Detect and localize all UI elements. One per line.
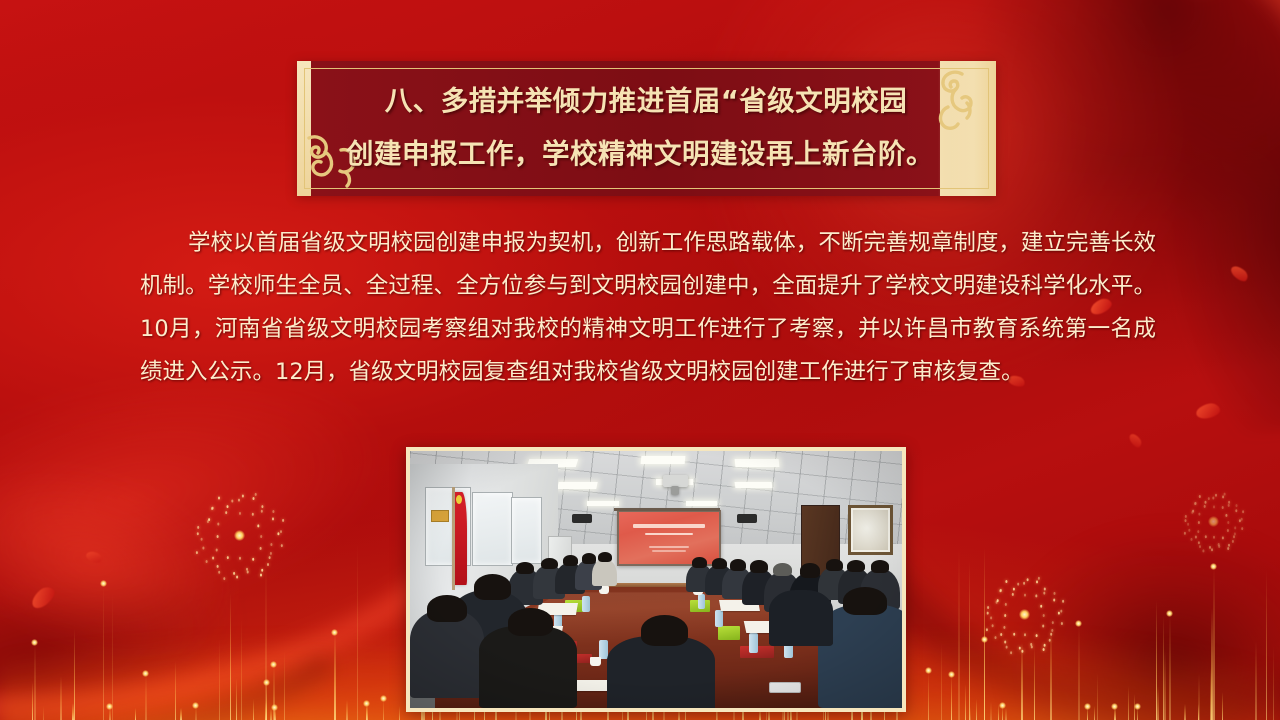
- firework-spark: [1185, 519, 1187, 522]
- paper-cup: [590, 657, 602, 667]
- photo-frame: [406, 447, 906, 712]
- light-ray: [366, 704, 368, 720]
- firework-spark: [1194, 502, 1196, 505]
- firework-spark: [1036, 634, 1038, 637]
- firework-spark: [1044, 588, 1046, 591]
- firework-spark: [261, 569, 263, 572]
- attendee-head: [508, 608, 552, 636]
- attendee-head: [712, 558, 727, 569]
- firework-spark: [1241, 518, 1243, 521]
- firework-spark: [1062, 600, 1064, 603]
- attendee-head: [750, 560, 768, 573]
- firework-spark: [217, 565, 219, 568]
- firework-spark: [277, 532, 279, 535]
- light-ray: [1097, 673, 1099, 720]
- firework-spark: [992, 624, 994, 627]
- firework-spark: [1218, 545, 1220, 548]
- firework-spark: [239, 557, 241, 560]
- banner-title-line-2: 创建申报工作，学校精神文明建设再上新台阶。: [309, 128, 971, 181]
- body-paragraph: 学校以首届省级文明校园创建申报为契机，创新工作思路载体，不断完善规章制度，建立完…: [140, 222, 1156, 394]
- firework-spark: [1035, 594, 1037, 597]
- light-ray: [253, 699, 255, 720]
- firework-spark: [1050, 633, 1052, 636]
- ray-tip-dot: [1075, 620, 1082, 627]
- silk-ribbon-bottom-right: [920, 460, 1280, 720]
- firework-spark: [211, 507, 213, 510]
- attendee-head: [871, 560, 890, 573]
- firework-spark: [1005, 603, 1007, 606]
- firework-spark: [1227, 547, 1229, 550]
- firework-spark: [255, 493, 257, 496]
- firework-spark: [252, 513, 254, 516]
- petal-icon: [85, 549, 104, 564]
- water-bottle: [698, 594, 705, 609]
- firework-spark: [1232, 540, 1234, 543]
- light-ray: [180, 708, 182, 720]
- firework-spark: [1191, 511, 1193, 514]
- light-ray: [219, 639, 221, 720]
- tissue-box: [718, 626, 741, 640]
- firework-spark: [1215, 494, 1217, 497]
- firework-spark: [197, 526, 199, 529]
- light-ray: [1266, 570, 1268, 720]
- light-ray: [1156, 600, 1158, 720]
- firework-spark: [1013, 588, 1015, 591]
- light-ray: [175, 661, 177, 720]
- firework-spark: [269, 556, 271, 559]
- firework-spark: [1188, 529, 1190, 532]
- firework-spark: [1000, 633, 1002, 636]
- attendee-head: [563, 555, 579, 566]
- screen-text-line-4: [652, 550, 686, 552]
- light-ray: [274, 708, 276, 720]
- firework-spark: [1021, 650, 1023, 653]
- firework-spark: [1204, 505, 1206, 508]
- light-ray: [1128, 686, 1130, 720]
- firework-spark: [1054, 592, 1056, 595]
- firework-spark: [1241, 527, 1243, 530]
- firework-icon: [196, 492, 282, 578]
- firework-spark: [1191, 538, 1193, 541]
- smartphone: [769, 682, 801, 693]
- firework-spark: [247, 571, 249, 574]
- firework-spark: [1198, 541, 1200, 544]
- attendee-head: [541, 558, 558, 570]
- firework-spark: [1224, 493, 1226, 496]
- light-ray: [195, 706, 197, 720]
- firework-spark: [1239, 519, 1241, 522]
- firework-spark: [217, 535, 219, 538]
- petal-icon: [1195, 402, 1221, 421]
- light-ray: [266, 683, 268, 720]
- light-ray: [1094, 706, 1096, 720]
- firework-spark: [1030, 643, 1032, 646]
- attendee-head: [474, 574, 511, 600]
- firework-spark: [270, 552, 272, 555]
- light-ray: [1164, 650, 1166, 720]
- ray-tip-dot: [1084, 703, 1091, 710]
- firework-spark: [1197, 530, 1199, 533]
- firework-spark: [1208, 497, 1210, 500]
- petal-icon: [28, 583, 58, 611]
- screen-text-line-2: [645, 533, 693, 536]
- firework-spark: [236, 576, 238, 579]
- firework-spark: [1061, 622, 1063, 625]
- firework-spark: [227, 505, 229, 508]
- wall-sign: [431, 510, 450, 522]
- silk-arc-6: [0, 395, 411, 720]
- firework-spark: [1006, 646, 1008, 649]
- light-ray: [1137, 707, 1139, 720]
- firework-spark: [260, 535, 262, 538]
- wall-painting: [848, 505, 893, 555]
- light-ray: [109, 707, 111, 720]
- screen-text-line-1: [633, 524, 706, 527]
- firework-spark: [206, 560, 208, 563]
- light-ray: [241, 619, 243, 720]
- light-ray: [941, 642, 943, 720]
- light-ray: [976, 699, 978, 720]
- ray-tip-dot: [271, 704, 278, 711]
- firework-spark: [990, 616, 992, 619]
- firework-spark: [1209, 546, 1211, 549]
- ceiling-panel-light: [734, 459, 779, 467]
- wall-speaker: [737, 514, 757, 523]
- light-ray: [1198, 674, 1200, 720]
- firework-spark: [1195, 536, 1197, 539]
- light-ray: [1255, 641, 1257, 720]
- firework-spark: [999, 589, 1001, 592]
- firework-spark: [1185, 515, 1187, 518]
- light-ray: [34, 643, 36, 720]
- light-ray: [284, 651, 286, 720]
- firework-spark: [197, 532, 199, 535]
- firework-spark: [987, 612, 989, 615]
- firework-spark: [995, 636, 997, 639]
- light-ray: [103, 584, 105, 720]
- light-ray: [74, 629, 76, 720]
- light-ray: [145, 674, 147, 720]
- firework-spark: [1213, 505, 1215, 508]
- light-ray: [951, 675, 953, 720]
- projection-screen: [617, 510, 722, 565]
- firework-spark: [1004, 641, 1006, 644]
- ray-tip-dot: [1111, 703, 1118, 710]
- firework-spark: [1003, 626, 1005, 629]
- firework-spark: [1192, 510, 1194, 513]
- attendee-head: [582, 553, 597, 564]
- firework-spark: [1228, 501, 1230, 504]
- firework-spark: [1027, 578, 1029, 581]
- attendee-head: [826, 559, 843, 571]
- firework-spark: [260, 547, 262, 550]
- light-ray: [1021, 642, 1023, 720]
- light-ray: [990, 702, 992, 720]
- banner-title: 八、多措并举倾力推进首届“省级文明校园 创建申报工作，学校精神文明建设再上新台阶…: [321, 75, 971, 181]
- firework-spark: [1019, 647, 1021, 650]
- firework-spark: [1187, 523, 1189, 526]
- ray-tip-dot: [999, 702, 1006, 709]
- light-ray: [965, 684, 967, 720]
- firework-spark: [1218, 543, 1220, 546]
- light-ray: [1210, 667, 1212, 720]
- projector-mount: [671, 486, 679, 495]
- firework-spark: [238, 499, 240, 502]
- firework-spark: [1036, 580, 1038, 583]
- firework-spark: [257, 524, 259, 527]
- firework-spark: [252, 558, 254, 561]
- firework-spark: [1236, 504, 1238, 507]
- ray-tip-dot: [270, 661, 277, 668]
- firework-spark: [1023, 582, 1025, 585]
- light-ray: [969, 561, 971, 720]
- firework-spark: [997, 599, 999, 602]
- firework-spark: [1199, 495, 1201, 498]
- light-ray: [928, 671, 930, 720]
- firework-spark: [196, 551, 198, 554]
- light-ray: [273, 665, 275, 720]
- light-ray: [969, 707, 971, 720]
- firework-spark: [1049, 639, 1051, 642]
- firework-spark: [1213, 536, 1215, 539]
- ray-tip-dot: [142, 670, 149, 677]
- firework-spark: [1058, 612, 1060, 615]
- firework-spark: [1228, 504, 1230, 507]
- flag-star: [456, 495, 462, 504]
- ceiling-panel-light: [686, 501, 718, 506]
- firework-core: [1208, 516, 1219, 527]
- light-ray: [1163, 615, 1165, 720]
- light-ray: [984, 548, 986, 720]
- firework-icon: [986, 576, 1062, 652]
- ray-tip-dot: [363, 700, 370, 707]
- attendee-head-grey: [773, 563, 792, 576]
- ceiling-panel-light: [587, 501, 619, 506]
- ceiling-panel-light: [557, 482, 598, 489]
- light-ray: [357, 543, 359, 720]
- attendee-head: [598, 552, 612, 562]
- firework-spark: [216, 549, 218, 552]
- firework-spark: [1205, 535, 1207, 538]
- ray-tip-dot: [31, 639, 38, 646]
- firework-spark: [1012, 593, 1014, 596]
- firework-spark: [1195, 502, 1197, 505]
- light-ray: [1002, 706, 1004, 720]
- firework-spark: [1202, 549, 1204, 552]
- firework-spark: [272, 517, 274, 520]
- banner-title-line-1: 八、多措并举倾力推进首届“省级文明校园: [385, 85, 908, 117]
- firework-spark: [1010, 651, 1012, 654]
- firework-spark: [223, 577, 225, 580]
- light-ray: [984, 640, 986, 720]
- firework-spark: [1005, 580, 1007, 583]
- firework-spark: [225, 511, 227, 514]
- ceiling-panel-light: [641, 456, 686, 464]
- ray-tip-dot: [1134, 703, 1141, 710]
- firework-spark: [1053, 599, 1055, 602]
- firework-spark: [1043, 614, 1045, 617]
- firework-spark: [1222, 536, 1224, 539]
- firework-spark: [1031, 645, 1033, 648]
- light-ray: [346, 700, 348, 720]
- firework-spark: [281, 544, 283, 547]
- attendee-head: [847, 560, 865, 572]
- firework-spark: [208, 518, 210, 521]
- firework-spark: [1225, 514, 1227, 517]
- attendee-side: [769, 590, 833, 647]
- water-bottle: [749, 633, 758, 652]
- water-bottle: [715, 610, 723, 627]
- firework-spark: [227, 556, 229, 559]
- firework-spark: [1043, 648, 1045, 651]
- light-ray: [383, 699, 385, 720]
- light-ray: [366, 706, 368, 720]
- firework-spark: [1234, 532, 1236, 535]
- firework-spark: [201, 538, 203, 541]
- firework-spark: [1044, 644, 1046, 647]
- light-ray: [1134, 694, 1136, 720]
- ceiling-panel-light: [734, 482, 772, 488]
- light-ray: [265, 701, 267, 720]
- firework-spark: [280, 530, 282, 533]
- firework-spark: [1211, 548, 1213, 551]
- light-ray: [1211, 608, 1213, 720]
- light-ray: [1213, 567, 1215, 720]
- attendee-head: [800, 563, 821, 578]
- firework-spark: [1052, 621, 1054, 624]
- firework-icon: [1184, 492, 1242, 550]
- light-ray: [998, 704, 1000, 720]
- silk-ribbon-bottom-left: [0, 371, 330, 720]
- light-ray: [1078, 624, 1080, 720]
- conference-room-photo: [410, 451, 902, 708]
- light-ray: [1222, 692, 1224, 720]
- light-ray: [334, 633, 336, 720]
- firework-spark: [1234, 526, 1236, 529]
- ray-tip-dot: [380, 695, 387, 702]
- attendee-head: [641, 615, 688, 646]
- light-ray: [1050, 626, 1052, 720]
- firework-spark: [1051, 629, 1053, 632]
- ray-tip-dot: [100, 580, 107, 587]
- light-ray: [958, 548, 960, 720]
- light-ray: [270, 708, 272, 720]
- firework-spark: [1212, 497, 1214, 500]
- title-banner: 八、多措并举倾力推进首届“省级文明校园 创建申报工作，学校精神文明建设再上新台阶…: [297, 61, 996, 196]
- window: [472, 492, 513, 566]
- light-ray: [72, 703, 74, 720]
- firework-spark: [1199, 545, 1201, 548]
- attendee-head: [692, 557, 707, 568]
- chinese-flag-icon: [454, 492, 467, 585]
- ray-tip-dot: [981, 636, 988, 643]
- firework-spark: [1024, 633, 1026, 636]
- ray-tip-dot: [948, 671, 955, 678]
- firework-spark: [233, 572, 235, 575]
- firework-spark: [1060, 610, 1062, 613]
- light-ray: [1273, 646, 1275, 720]
- firework-spark: [1198, 521, 1200, 524]
- light-ray: [32, 682, 34, 720]
- firework-spark: [242, 495, 244, 498]
- firework-spark: [282, 519, 284, 522]
- attendee-back: [479, 626, 577, 708]
- firework-spark: [253, 497, 255, 500]
- firework-spark: [1205, 501, 1207, 504]
- light-ray: [43, 706, 45, 720]
- firework-spark: [1043, 592, 1045, 595]
- wall-speaker: [572, 514, 592, 523]
- light-ray: [230, 593, 232, 720]
- water-bottle: [582, 596, 589, 611]
- firework-core: [1019, 609, 1030, 620]
- firework-spark: [1040, 605, 1042, 608]
- firework-spark: [217, 523, 219, 526]
- ray-tip-dot: [1166, 610, 1173, 617]
- ray-tip-dot: [192, 702, 199, 709]
- firework-spark: [1222, 506, 1224, 509]
- firework-spark: [1228, 544, 1230, 547]
- attendee-head: [427, 595, 466, 622]
- attendee-back: [410, 610, 484, 697]
- light-ray: [1034, 647, 1036, 720]
- firework-spark: [239, 512, 241, 515]
- light-ray: [1114, 707, 1116, 720]
- firework-spark: [261, 505, 263, 508]
- attendee-back: [607, 636, 715, 708]
- firework-spark: [260, 574, 262, 577]
- light-ray: [1087, 707, 1089, 720]
- firework-spark: [202, 547, 204, 550]
- attendee-head: [730, 559, 746, 571]
- screen-text-line-3: [649, 546, 689, 548]
- firework-spark: [1184, 532, 1186, 535]
- ray-tip-dot: [263, 679, 270, 686]
- firework-spark: [207, 520, 209, 523]
- firework-spark: [218, 571, 220, 574]
- firework-spark: [987, 606, 989, 609]
- firework-spark: [212, 507, 214, 510]
- petal-icon: [1128, 432, 1144, 449]
- firework-spark: [1233, 535, 1235, 538]
- firework-spark: [231, 500, 233, 503]
- painting-canvas: [853, 510, 888, 550]
- firework-spark: [218, 497, 220, 500]
- firework-spark: [1198, 513, 1200, 516]
- light-ray: [1005, 708, 1007, 720]
- firework-spark: [272, 510, 274, 513]
- light-ray: [236, 678, 238, 720]
- firework-spark: [1038, 577, 1040, 580]
- light-ray: [1157, 686, 1159, 720]
- window: [511, 497, 543, 563]
- firework-spark: [1227, 529, 1229, 532]
- screen-rail: [614, 508, 720, 512]
- firework-spark: [986, 628, 988, 631]
- firework-spark: [246, 568, 248, 571]
- firework-spark: [1004, 614, 1006, 617]
- light-ray: [1169, 614, 1171, 720]
- firework-spark: [996, 601, 998, 604]
- firework-spark: [1242, 510, 1244, 513]
- firework-spark: [1235, 509, 1237, 512]
- attendee-head: [516, 562, 534, 575]
- attendee-head: [843, 587, 887, 615]
- ray-tip-dot: [925, 667, 932, 674]
- slide-canvas: 八、多措并举倾力推进首届“省级文明校园 创建申报工作，学校精神文明建设再上新台阶…: [0, 0, 1280, 720]
- firework-spark: [212, 557, 214, 560]
- firework-spark: [261, 510, 263, 513]
